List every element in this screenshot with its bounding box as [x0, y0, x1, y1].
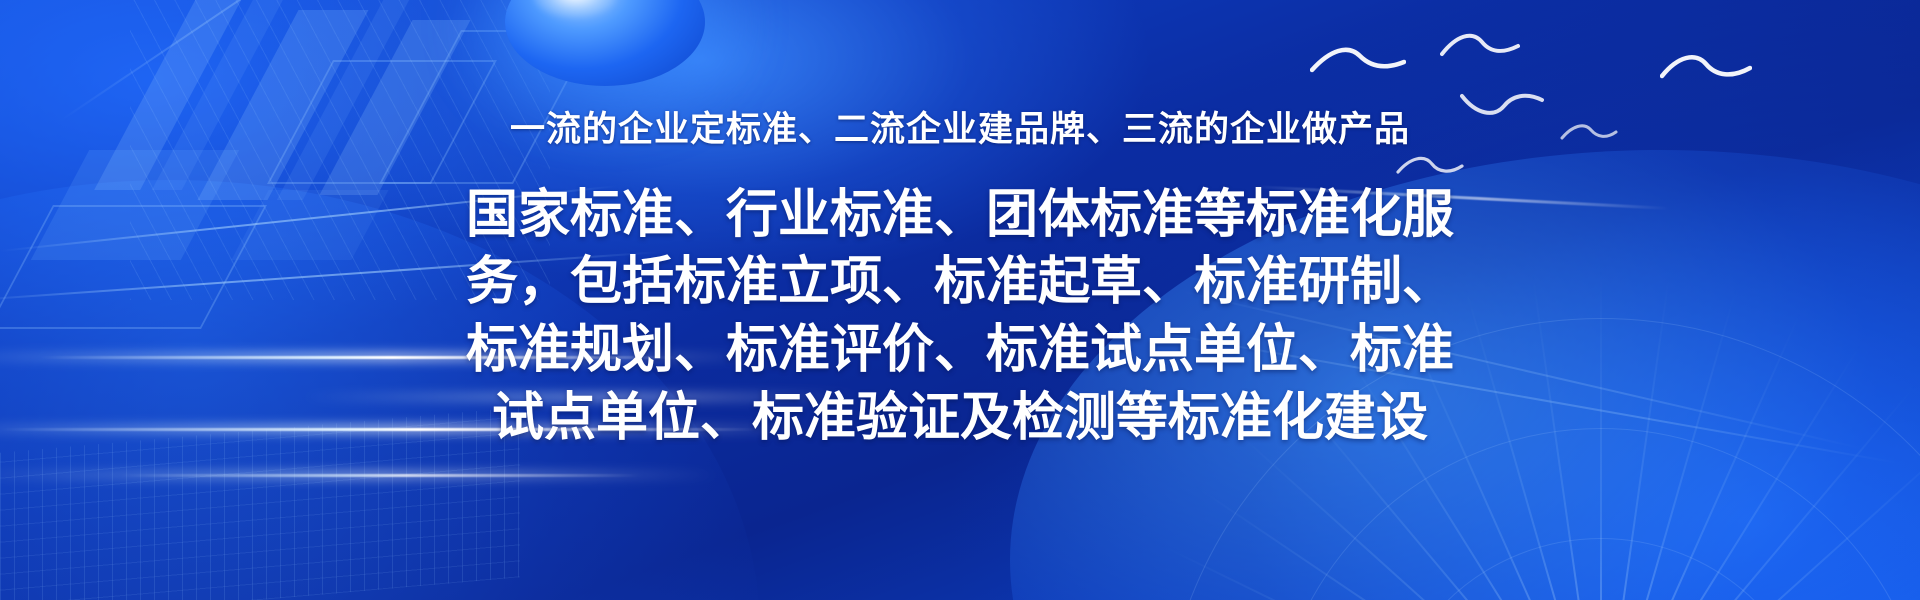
- banner-headline: 一流的企业定标准、二流企业建品牌、三流的企业做产品: [510, 108, 1410, 152]
- banner-body-text: 国家标准、行业标准、团体标准等标准化服务，包括标准立项、标准起草、标准研制、标准…: [445, 182, 1475, 452]
- hero-banner: 一流的企业定标准、二流企业建品牌、三流的企业做产品 国家标准、行业标准、团体标准…: [0, 0, 1920, 600]
- banner-content: 一流的企业定标准、二流企业建品牌、三流的企业做产品 国家标准、行业标准、团体标准…: [0, 0, 1920, 600]
